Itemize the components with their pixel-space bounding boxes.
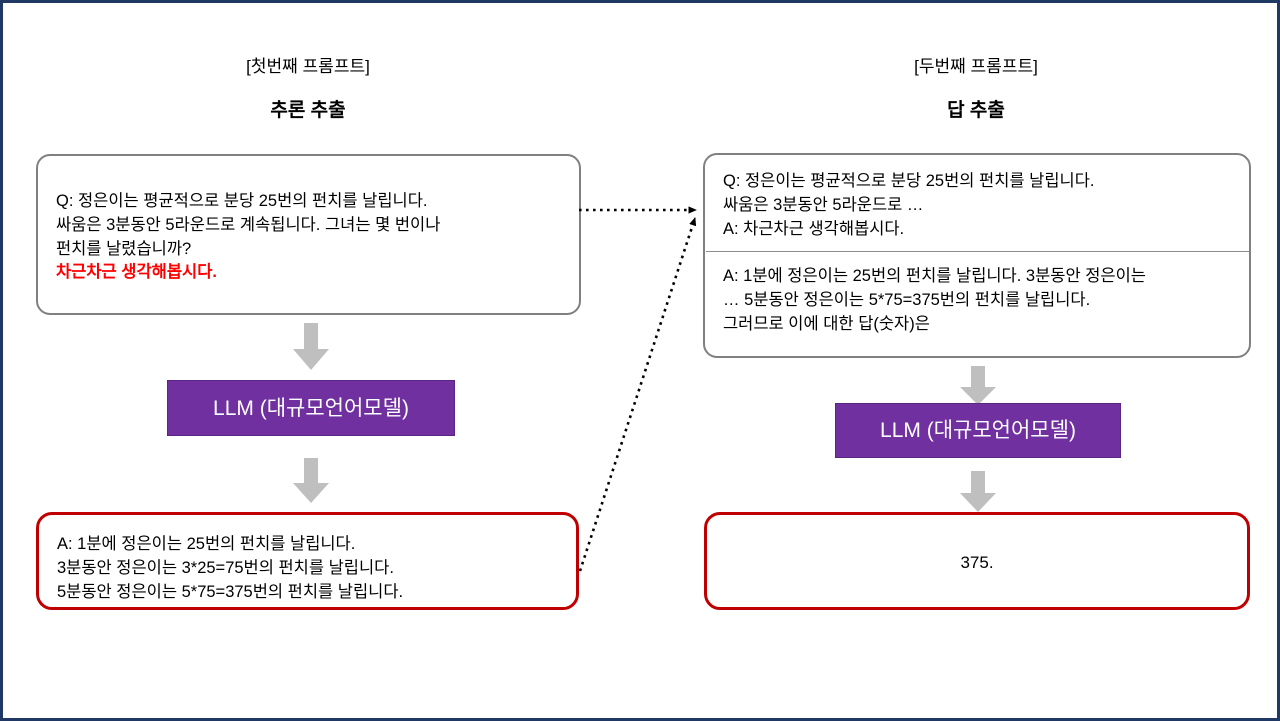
reasoning-to-prompt-connector [580,218,695,571]
right-prompt-box[interactable]: Q: 정은이는 평균적으로 분당 25번의 펀치를 날립니다. 싸움은 3분동안… [703,153,1251,358]
left-answer-text: A: 1분에 정은이는 25번의 펀치를 날립니다. 3분동안 정은이는 3*2… [57,533,565,605]
right-llm-label: LLM (대규모언어모델) [880,420,1076,441]
left-llm-box[interactable]: LLM (대규모언어모델) [167,380,455,436]
right-answer-box[interactable]: 375. [704,512,1250,610]
left-llm-to-answer-arrow [291,458,331,504]
left-prompt-question: Q: 정은이는 평균적으로 분당 25번의 펀치를 날립니다. 싸움은 3분동안… [56,190,566,262]
right-answer-text: 375. [707,553,1247,573]
left-llm-label: LLM (대규모언어모델) [213,398,409,419]
diagram-canvas: [첫번째 프롬프트] 추론 추출 Q: 정은이는 평균적으로 분당 25번의 펀… [0,0,1280,721]
right-column-tag: [두번째 프롬프트] [826,58,1126,77]
right-prompt-to-llm-arrow [958,366,998,406]
left-column-tag: [첫번째 프롬프트] [158,58,458,77]
left-prompt-hint: 차근차근 생각해봅시다. [56,261,566,285]
right-prompt-upper-text: Q: 정은이는 평균적으로 분당 25번의 펀치를 날립니다. 싸움은 3분동안… [723,170,1238,242]
right-prompt-divider [706,251,1250,252]
right-llm-to-answer-arrow [958,471,998,513]
left-column-title: 추론 추출 [158,101,458,122]
left-prompt-to-llm-arrow [291,323,331,371]
right-column-title: 답 추출 [826,101,1126,122]
left-answer-box[interactable]: A: 1분에 정은이는 25번의 펀치를 날립니다. 3분동안 정은이는 3*2… [36,512,579,610]
left-prompt-box[interactable]: Q: 정은이는 평균적으로 분당 25번의 펀치를 날립니다. 싸움은 3분동안… [36,154,581,315]
right-prompt-lower-text: A: 1분에 정은이는 25번의 펀치를 날립니다. 3분동안 정은이는 … 5… [723,265,1241,337]
right-llm-box[interactable]: LLM (대규모언어모델) [835,403,1121,458]
